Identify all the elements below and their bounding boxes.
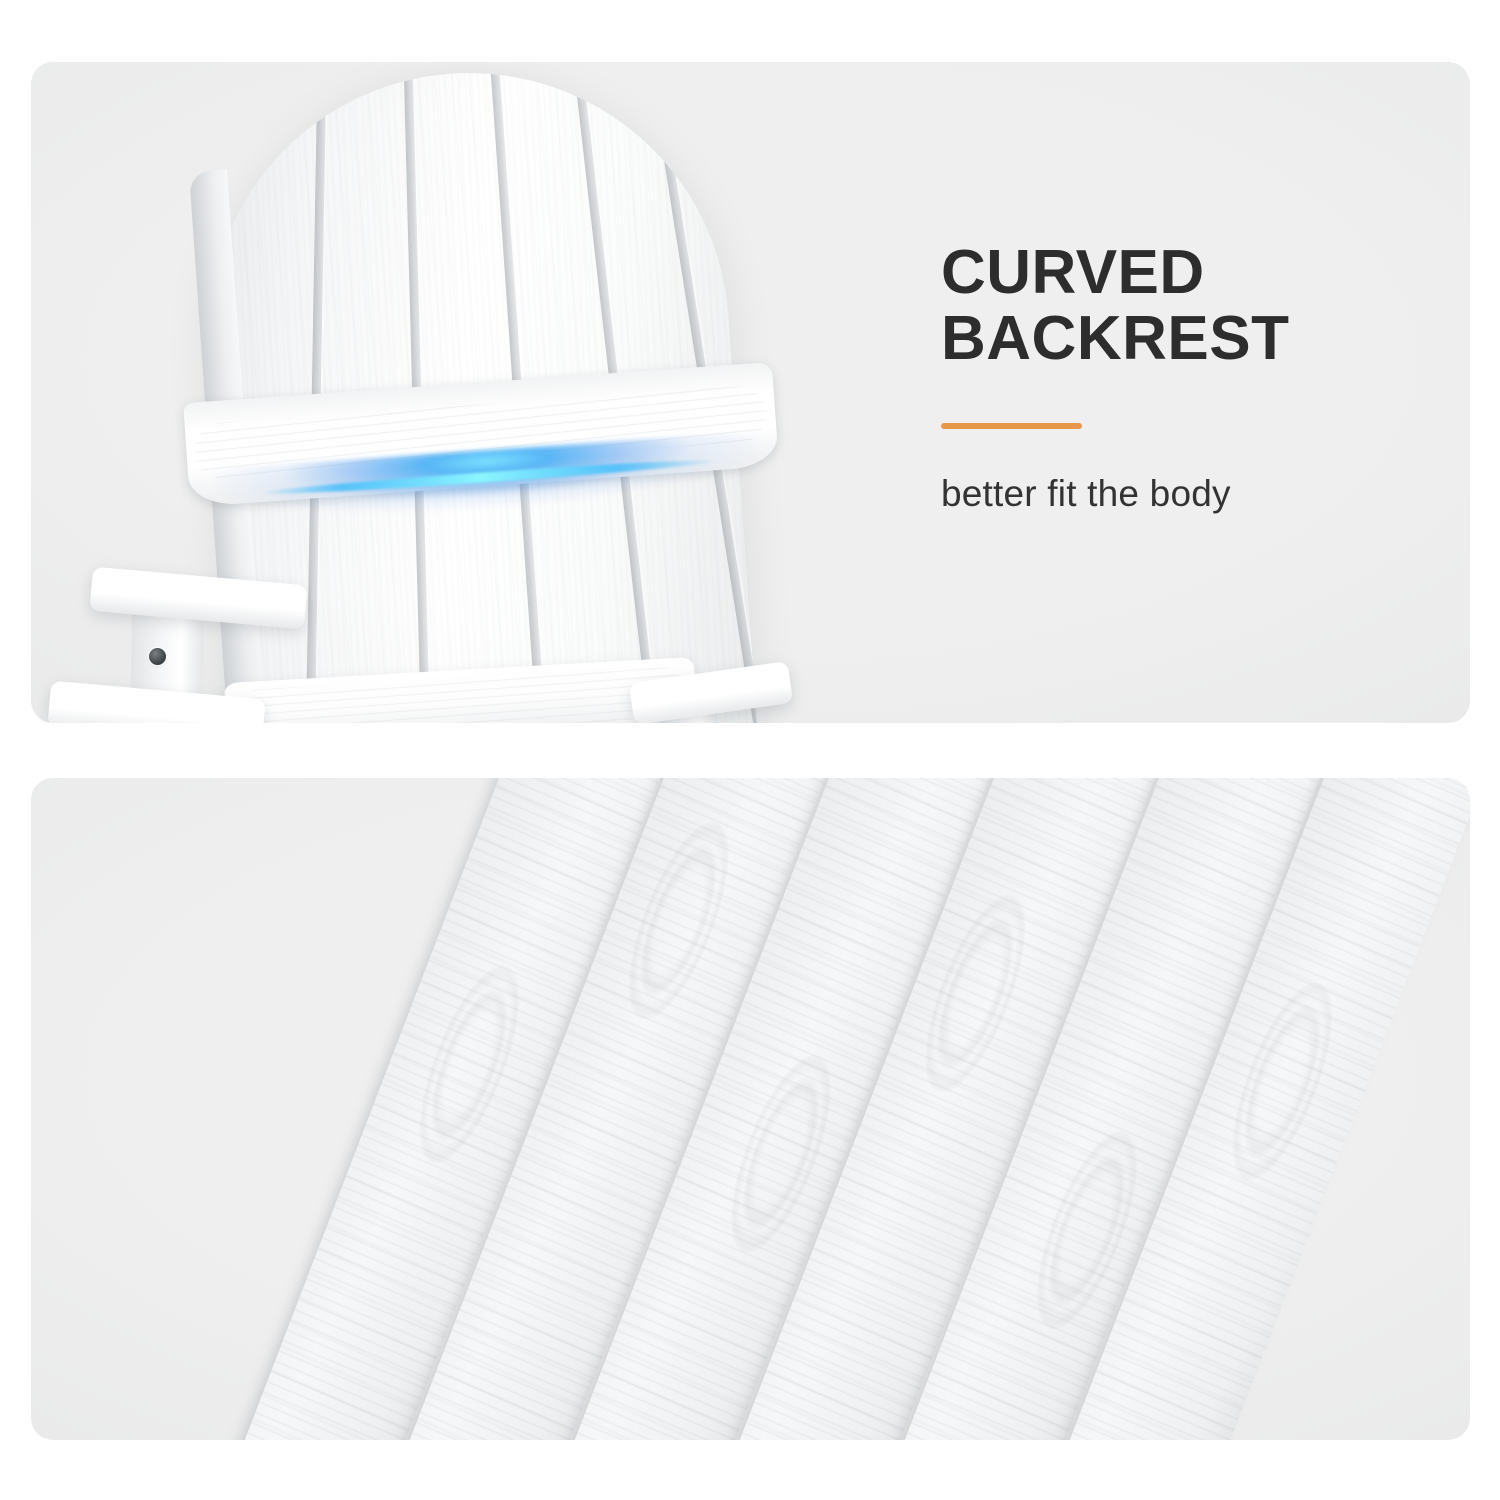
subhead: better fit the body (941, 473, 1289, 515)
headline-line2: BACKREST (941, 306, 1289, 372)
screw-icon (149, 648, 166, 665)
product-photo-armrest (31, 778, 1470, 1440)
feature-panel-wide-armrests: WIDE ARMRESTS for better arm relaxation (31, 778, 1470, 1440)
accent-divider (941, 423, 1082, 429)
backrest-slat-field (551, 778, 1470, 1440)
headline-line1: CURVED (941, 240, 1289, 306)
chair-backrest-assembly (129, 62, 820, 723)
infographic-stage: CURVED BACKREST better fit the body (0, 0, 1500, 1500)
feature-panel-curved-backrest: CURVED BACKREST better fit the body (31, 62, 1470, 723)
feature-text-curved-backrest: CURVED BACKREST better fit the body (941, 240, 1289, 515)
